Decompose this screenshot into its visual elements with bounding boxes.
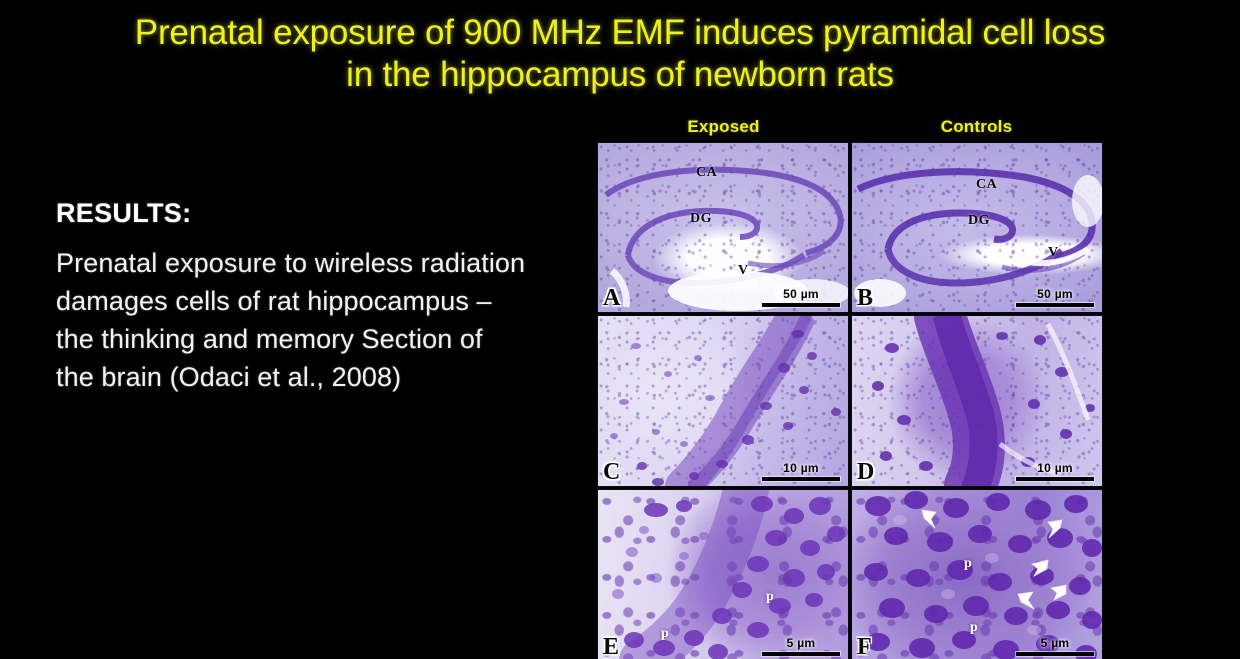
panel-e-scale-bar: 5 µm <box>762 637 840 656</box>
figure-column-headers: Exposed Controls <box>597 116 1103 142</box>
panel-letter-d: D <box>857 460 874 484</box>
scale-bar-line <box>762 303 840 307</box>
panel-a-scale-bar: 50 µm <box>762 288 840 307</box>
scale-bar-label: 10 µm <box>762 462 840 475</box>
panel-b-label-ca: CA <box>976 177 997 193</box>
arrowhead-icon-3 <box>1028 558 1050 578</box>
arrowhead-icon-2 <box>1044 518 1064 540</box>
panel-a[interactable]: CA DG V A 50 µm <box>597 142 849 313</box>
results-text-block: RESULTS: Prenatal exposure to wireless r… <box>56 196 526 396</box>
panel-letter-e: E <box>603 635 619 659</box>
panel-a-label-dg: DG <box>690 211 712 227</box>
scale-bar-line <box>1016 477 1094 481</box>
panel-d[interactable]: D 10 µm <box>851 315 1103 487</box>
panel-b-scale-bar: 50 µm <box>1016 288 1094 307</box>
panel-c-scale-bar: 10 µm <box>762 462 840 481</box>
panel-a-label-v: V <box>738 263 749 279</box>
panel-b-label-dg: DG <box>968 213 990 229</box>
scale-bar-line <box>1016 303 1094 307</box>
panel-f-label-p-2: p <box>970 620 978 636</box>
results-heading: RESULTS: <box>56 196 526 230</box>
panel-e-label-p-2: p <box>661 626 669 642</box>
column-header-controls: Controls <box>850 116 1103 142</box>
panel-e[interactable]: p p E 5 µm <box>597 489 849 659</box>
scale-bar-label: 50 µm <box>762 288 840 301</box>
scale-bar-label: 50 µm <box>1016 288 1094 301</box>
panel-d-scale-bar: 10 µm <box>1016 462 1094 481</box>
pyramidal-cell-cluster <box>598 490 848 659</box>
arrowhead-icon-4 <box>1016 590 1038 612</box>
panel-f-scale-bar: 5 µm <box>1016 637 1094 656</box>
micrograph-figure: Exposed Controls CA DG V <box>597 116 1103 659</box>
scale-bar-line <box>1016 652 1094 656</box>
panel-c[interactable]: C 10 µm <box>597 315 849 487</box>
panel-b-label-v: V <box>1048 245 1059 261</box>
panel-letter-f: F <box>857 635 872 659</box>
panel-letter-a: A <box>603 286 620 310</box>
slide-canvas: Prenatal exposure of 900 MHz EMF induces… <box>0 0 1240 659</box>
column-header-exposed: Exposed <box>597 116 850 142</box>
panel-letter-b: B <box>857 286 873 310</box>
results-body: Prenatal exposure to wireless radiation … <box>56 244 526 396</box>
panel-f-label-p-1: p <box>964 556 972 572</box>
slide-title: Prenatal exposure of 900 MHz EMF induces… <box>0 12 1240 96</box>
scale-bar-line <box>762 652 840 656</box>
arrowhead-icon-1 <box>920 508 940 530</box>
micrograph-panel-grid: CA DG V A 50 µm <box>597 142 1103 659</box>
scale-bar-label: 5 µm <box>762 637 840 650</box>
panel-b[interactable]: CA DG V B 50 µm <box>851 142 1103 313</box>
panel-a-label-ca: CA <box>696 165 717 181</box>
scale-bar-label: 10 µm <box>1016 462 1094 475</box>
panel-letter-c: C <box>603 460 620 484</box>
panel-e-label-p-1: p <box>766 589 774 605</box>
panel-f[interactable]: p p F 5 µm <box>851 489 1103 659</box>
scale-bar-line <box>762 477 840 481</box>
arrowhead-icon-5 <box>1048 582 1068 602</box>
scale-bar-label: 5 µm <box>1016 637 1094 650</box>
